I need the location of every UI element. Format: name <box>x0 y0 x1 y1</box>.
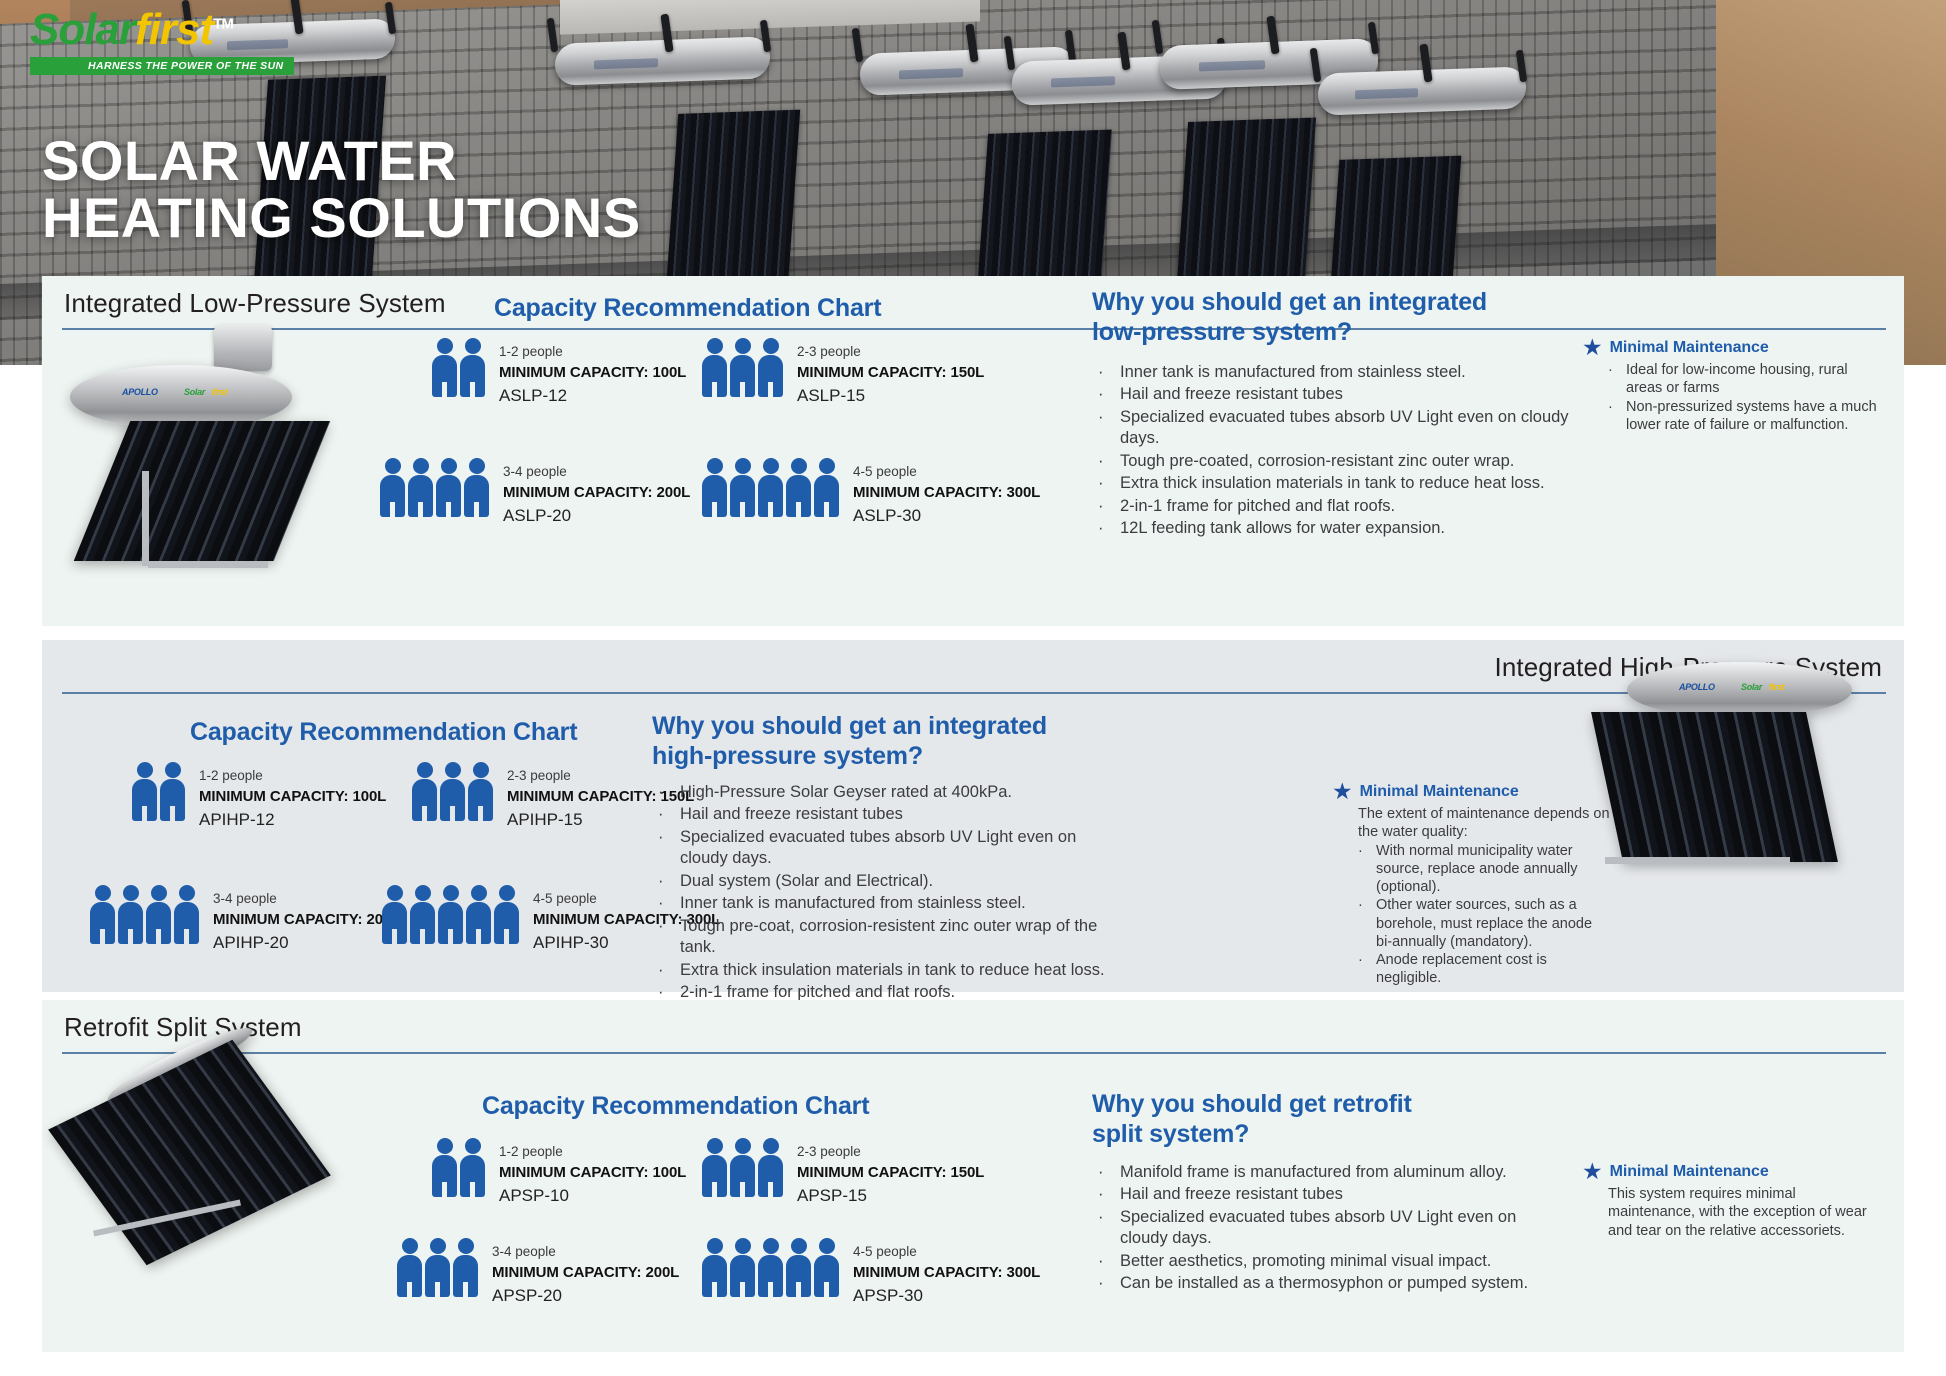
person-icon <box>460 338 485 397</box>
person-body-icon <box>440 779 465 821</box>
capacity-minimum-label: MINIMUM CAPACITY: 150L <box>797 1162 984 1184</box>
feature-bullet-item: ·Tough pre-coated, corrosion-resistant z… <box>1092 451 1592 472</box>
bullet-dot-icon: · <box>1608 361 1626 398</box>
person-icon <box>438 885 463 944</box>
bullet-dot-icon: · <box>1092 384 1120 405</box>
person-head-icon <box>95 885 111 901</box>
feature-bullet-text: Dual system (Solar and Electrical). <box>680 871 1122 892</box>
person-body-icon <box>468 779 493 821</box>
why-title-line1: Why you should get an integrated <box>1092 288 1487 318</box>
person-head-icon <box>499 885 515 901</box>
person-body-icon <box>410 902 435 944</box>
person-head-icon <box>791 458 807 474</box>
person-head-icon <box>707 1238 723 1254</box>
people-figures <box>432 338 485 397</box>
capacity-recommendation-item: 3-4 peopleMINIMUM CAPACITY: 200LAPIHP-20 <box>90 885 400 956</box>
product-frame-leg <box>148 561 268 568</box>
feature-bullet-text: Hail and freeze resistant tubes <box>1120 1184 1552 1205</box>
bullet-dot-icon: · <box>1092 451 1120 472</box>
person-icon <box>440 762 465 821</box>
why-title-line2: high-pressure system? <box>652 742 1047 772</box>
product-badge-solar: Solar <box>184 387 205 397</box>
feature-bullet-text: Extra thick insulation materials in tank… <box>1120 473 1592 494</box>
person-head-icon <box>707 1138 723 1154</box>
person-head-icon <box>165 762 181 778</box>
minimal-maintenance-header: ★Minimal Maintenance <box>1332 780 1612 803</box>
capacity-model-label: ASLP-15 <box>797 384 984 409</box>
capacity-chart-title: Capacity Recommendation Chart <box>190 718 577 748</box>
geyser-tank <box>555 36 770 86</box>
capacity-minimum-label: MINIMUM CAPACITY: 100L <box>499 362 686 384</box>
minimal-maintenance-bullet-text: Ideal for low-income housing, rural area… <box>1626 361 1882 398</box>
bullet-dot-icon: · <box>1092 1207 1120 1250</box>
capacity-minimum-label: MINIMUM CAPACITY: 300L <box>853 482 1040 504</box>
capacity-item-text: 2-3 peopleMINIMUM CAPACITY: 150LAPSP-15 <box>797 1138 984 1209</box>
feature-bullet-item: ·Can be installed as a thermosyphon or p… <box>1092 1273 1552 1294</box>
bullet-dot-icon: · <box>652 916 680 959</box>
section-retrofit-split: Retrofit Split SystemCapacity Recommenda… <box>42 1000 1904 1352</box>
person-icon <box>380 458 405 517</box>
capacity-model-label: APSP-10 <box>499 1184 686 1209</box>
people-figures <box>382 885 519 944</box>
bullet-dot-icon: · <box>1092 1251 1120 1272</box>
person-icon <box>382 885 407 944</box>
capacity-people-label: 3-4 people <box>492 1242 679 1262</box>
bullet-dot-icon: · <box>652 960 680 981</box>
person-body-icon <box>702 355 727 397</box>
feature-bullet-item: ·Hail and freeze resistant tubes <box>1092 1184 1552 1205</box>
person-body-icon <box>786 475 811 517</box>
feature-bullet-item: ·Extra thick insulation materials in tan… <box>652 960 1122 981</box>
feature-bullet-item: ·Specialized evacuated tubes absorb UV L… <box>1092 407 1592 450</box>
capacity-people-label: 2-3 people <box>797 1142 984 1162</box>
person-body-icon <box>408 475 433 517</box>
person-body-icon <box>702 475 727 517</box>
person-body-icon <box>730 1255 755 1297</box>
people-figures <box>380 458 489 517</box>
person-body-icon <box>160 779 185 821</box>
person-icon <box>425 1238 450 1297</box>
person-head-icon <box>417 762 433 778</box>
why-get-system-title: Why you should get an integratedhigh-pre… <box>652 712 1047 771</box>
person-body-icon <box>460 355 485 397</box>
person-head-icon <box>735 1138 751 1154</box>
feature-bullet-item: ·Hail and freeze resistant tubes <box>652 804 1122 825</box>
person-icon <box>397 1238 422 1297</box>
person-icon <box>466 885 491 944</box>
capacity-recommendation-item: 2-3 peopleMINIMUM CAPACITY: 150LASLP-15 <box>702 338 984 409</box>
logo-trademark-icon: TM <box>213 15 233 32</box>
person-icon <box>730 1138 755 1197</box>
person-body-icon <box>460 1155 485 1197</box>
capacity-chart-title: Capacity Recommendation Chart <box>494 294 881 324</box>
capacity-people-label: 1-2 people <box>199 766 386 786</box>
product-evacuated-tubes <box>74 421 331 561</box>
person-head-icon <box>735 458 751 474</box>
person-icon <box>460 1138 485 1197</box>
bullet-dot-icon: · <box>1092 1273 1120 1294</box>
feature-bullet-text: Specialized evacuated tubes absorb UV Li… <box>680 827 1122 870</box>
section-integrated-high-pressure: Integrated High-Pressure SystemCapacity … <box>42 640 1904 992</box>
person-icon <box>464 458 489 517</box>
capacity-item-text: 3-4 peopleMINIMUM CAPACITY: 200LASLP-20 <box>503 458 690 529</box>
feature-bullet-text: Can be installed as a thermosyphon or pu… <box>1120 1273 1552 1294</box>
person-icon <box>146 885 171 944</box>
person-icon <box>786 1238 811 1297</box>
capacity-model-label: ASLP-30 <box>853 504 1040 529</box>
person-head-icon <box>445 762 461 778</box>
minimal-maintenance-callout: ★Minimal MaintenanceThis system requires… <box>1582 1160 1872 1240</box>
capacity-recommendation-item: 1-2 peopleMINIMUM CAPACITY: 100LAPIHP-12 <box>132 762 386 833</box>
minimal-maintenance-header: ★Minimal Maintenance <box>1582 1160 1872 1183</box>
section-heading: Integrated Low-Pressure System <box>64 288 446 319</box>
feature-bullet-text: Extra thick insulation materials in tank… <box>680 960 1122 981</box>
bullet-dot-icon: · <box>1358 951 1376 988</box>
capacity-recommendation-item: 1-2 peopleMINIMUM CAPACITY: 100LASLP-12 <box>432 338 686 409</box>
capacity-minimum-label: MINIMUM CAPACITY: 200L <box>503 482 690 504</box>
person-head-icon <box>387 885 403 901</box>
person-icon <box>432 338 457 397</box>
person-icon <box>453 1238 478 1297</box>
person-head-icon <box>123 885 139 901</box>
person-icon <box>730 1238 755 1297</box>
why-get-system-title: Why you should get an integratedlow-pres… <box>1092 288 1487 347</box>
feature-bullet-item: ·Tough pre-coat, corrosion-resistent zin… <box>652 916 1122 959</box>
feature-bullet-item: ·Dual system (Solar and Electrical). <box>652 871 1122 892</box>
brand-logo: SolarfirstTM HARNESS THE POWER OF THE SU… <box>30 8 300 75</box>
people-figures <box>412 762 493 821</box>
minimal-maintenance-bullet-text: Anode replacement cost is negligible. <box>1376 951 1612 988</box>
capacity-recommendation-item: 4-5 peopleMINIMUM CAPACITY: 300LAPSP-30 <box>702 1238 1040 1309</box>
feature-bullet-text: Better aesthetics, promoting minimal vis… <box>1120 1251 1552 1272</box>
person-head-icon <box>791 1238 807 1254</box>
capacity-item-text: 1-2 peopleMINIMUM CAPACITY: 100LAPIHP-12 <box>199 762 386 833</box>
person-head-icon <box>735 1238 751 1254</box>
star-icon: ★ <box>1332 780 1353 803</box>
person-body-icon <box>397 1255 422 1297</box>
people-figures <box>432 1138 485 1197</box>
people-figures <box>702 338 783 397</box>
feature-bullet-text: Inner tank is manufactured from stainles… <box>680 893 1122 914</box>
person-head-icon <box>413 458 429 474</box>
person-body-icon <box>132 779 157 821</box>
capacity-recommendation-item: 1-2 peopleMINIMUM CAPACITY: 100LAPSP-10 <box>432 1138 686 1209</box>
person-body-icon <box>118 902 143 944</box>
capacity-model-label: APSP-15 <box>797 1184 984 1209</box>
person-body-icon <box>382 902 407 944</box>
bullet-dot-icon: · <box>1092 1184 1120 1205</box>
product-badge-apollo: APOLLO <box>1679 682 1715 692</box>
person-body-icon <box>814 475 839 517</box>
product-evacuated-tubes <box>1591 712 1838 862</box>
logo-tagline: HARNESS THE POWER OF THE SUN <box>30 57 294 75</box>
feature-bullet-item: ·Specialized evacuated tubes absorb UV L… <box>652 827 1122 870</box>
person-head-icon <box>402 1238 418 1254</box>
logo-text-first: first <box>135 5 213 54</box>
product-badge-apollo: APOLLO <box>122 387 158 397</box>
capacity-model-label: ASLP-12 <box>499 384 686 409</box>
person-head-icon <box>707 338 723 354</box>
person-icon <box>468 762 493 821</box>
capacity-people-label: 4-5 people <box>853 462 1040 482</box>
minimal-maintenance-lead: The extent of maintenance depends on the… <box>1332 805 1612 842</box>
capacity-people-label: 3-4 people <box>213 889 400 909</box>
person-head-icon <box>819 458 835 474</box>
section-integrated-low-pressure: Integrated Low-Pressure SystemAPOLLOSola… <box>42 276 1904 626</box>
feature-bullet-text: Specialized evacuated tubes absorb UV Li… <box>1120 407 1592 450</box>
minimal-maintenance-header: ★Minimal Maintenance <box>1582 336 1882 359</box>
capacity-recommendation-item: 3-4 peopleMINIMUM CAPACITY: 200LAPSP-20 <box>397 1238 679 1309</box>
minimal-maintenance-bullet-item: ·With normal municipality water source, … <box>1358 842 1612 897</box>
logo-text-solar: Solar <box>30 5 135 54</box>
person-body-icon <box>174 902 199 944</box>
people-figures <box>702 1238 839 1297</box>
feature-bullet-list: ·Manifold frame is manufactured from alu… <box>1092 1162 1552 1296</box>
person-body-icon <box>412 779 437 821</box>
feature-bullet-text: Tough pre-coat, corrosion-resistent zinc… <box>680 916 1122 959</box>
product-photo-split <box>62 1040 352 1290</box>
bullet-dot-icon: · <box>1092 496 1120 517</box>
minimal-maintenance-bullets: ·Ideal for low-income housing, rural are… <box>1582 361 1882 434</box>
person-head-icon <box>385 458 401 474</box>
person-icon <box>432 1138 457 1197</box>
feature-bullet-text: Manifold frame is manufactured from alum… <box>1120 1162 1552 1183</box>
person-icon <box>174 885 199 944</box>
capacity-model-label: APSP-30 <box>853 1284 1040 1309</box>
minimal-maintenance-title: Minimal Maintenance <box>1360 783 1519 801</box>
capacity-recommendation-item: 4-5 peopleMINIMUM CAPACITY: 300LASLP-30 <box>702 458 1040 529</box>
feature-bullet-text: Hail and freeze resistant tubes <box>1120 384 1592 405</box>
capacity-minimum-label: MINIMUM CAPACITY: 300L <box>853 1262 1040 1284</box>
capacity-model-label: APSP-20 <box>492 1284 679 1309</box>
geyser-tank <box>1318 66 1526 115</box>
person-head-icon <box>415 885 431 901</box>
person-icon <box>412 762 437 821</box>
person-body-icon <box>464 475 489 517</box>
capacity-recommendation-item: 3-4 peopleMINIMUM CAPACITY: 200LASLP-20 <box>380 458 690 529</box>
bullet-dot-icon: · <box>652 871 680 892</box>
person-icon <box>436 458 461 517</box>
bullet-dot-icon: · <box>652 827 680 870</box>
why-title-line1: Why you should get retrofit <box>1092 1090 1412 1120</box>
person-head-icon <box>707 458 723 474</box>
bullet-dot-icon: · <box>1092 518 1120 539</box>
capacity-people-label: 1-2 people <box>499 342 686 362</box>
person-head-icon <box>151 885 167 901</box>
product-badge-first: first <box>212 387 228 397</box>
capacity-people-label: 4-5 people <box>853 1242 1040 1262</box>
product-frame-leg <box>142 471 149 566</box>
bullet-dot-icon: · <box>1608 398 1626 435</box>
minimal-maintenance-title: Minimal Maintenance <box>1610 339 1769 357</box>
person-body-icon <box>146 902 171 944</box>
minimal-maintenance-callout: ★Minimal Maintenance·Ideal for low-incom… <box>1582 336 1882 434</box>
person-body-icon <box>730 1155 755 1197</box>
person-head-icon <box>763 458 779 474</box>
feeding-tank <box>214 325 272 371</box>
person-head-icon <box>430 1238 446 1254</box>
person-body-icon <box>814 1255 839 1297</box>
page-title: SOLAR WATER HEATING SOLUTIONS <box>42 132 641 246</box>
person-head-icon <box>443 885 459 901</box>
feature-bullet-item: ·12L feeding tank allows for water expan… <box>1092 518 1592 539</box>
person-icon <box>90 885 115 944</box>
person-body-icon <box>466 902 491 944</box>
bullet-dot-icon: · <box>1092 1162 1120 1183</box>
capacity-people-label: 3-4 people <box>503 462 690 482</box>
feature-bullet-item: ·Inner tank is manufactured from stainle… <box>1092 362 1592 383</box>
minimal-maintenance-bullet-text: Non-pressurized systems have a much lowe… <box>1626 398 1882 435</box>
bullet-dot-icon: · <box>1358 842 1376 897</box>
capacity-model-label: APIHP-20 <box>213 931 400 956</box>
person-icon <box>786 458 811 517</box>
person-icon <box>730 458 755 517</box>
person-head-icon <box>465 1138 481 1154</box>
person-body-icon <box>432 355 457 397</box>
person-head-icon <box>458 1238 474 1254</box>
feature-bullet-text: Tough pre-coated, corrosion-resistant zi… <box>1120 451 1592 472</box>
star-icon: ★ <box>1582 1160 1603 1183</box>
person-body-icon <box>730 475 755 517</box>
person-head-icon <box>735 338 751 354</box>
person-head-icon <box>471 885 487 901</box>
person-head-icon <box>437 338 453 354</box>
person-head-icon <box>441 458 457 474</box>
person-body-icon <box>432 1155 457 1197</box>
feature-bullet-item: ·Better aesthetics, promoting minimal vi… <box>1092 1251 1552 1272</box>
capacity-item-text: 4-5 peopleMINIMUM CAPACITY: 300LASLP-30 <box>853 458 1040 529</box>
capacity-item-text: 4-5 peopleMINIMUM CAPACITY: 300LAPSP-30 <box>853 1238 1040 1309</box>
feature-bullet-item: ·Extra thick insulation materials in tan… <box>1092 473 1592 494</box>
capacity-item-text: 1-2 peopleMINIMUM CAPACITY: 100LASLP-12 <box>499 338 686 409</box>
person-body-icon <box>730 355 755 397</box>
capacity-item-text: 3-4 peopleMINIMUM CAPACITY: 200LAPSP-20 <box>492 1238 679 1309</box>
minimal-maintenance-lead: This system requires minimal maintenance… <box>1582 1185 1872 1240</box>
person-icon <box>758 458 783 517</box>
minimal-maintenance-bullets: ·With normal municipality water source, … <box>1332 842 1612 988</box>
feature-bullet-item: ·Manifold frame is manufactured from alu… <box>1092 1162 1552 1183</box>
bullet-dot-icon: · <box>1092 407 1120 450</box>
person-head-icon <box>763 1138 779 1154</box>
product-badge-first: first <box>1769 682 1785 692</box>
person-icon <box>118 885 143 944</box>
minimal-maintenance-bullet-text: With normal municipality water source, r… <box>1376 842 1612 897</box>
why-title-line2: split system? <box>1092 1120 1412 1150</box>
person-icon <box>702 1238 727 1297</box>
why-title-line1: Why you should get an integrated <box>652 712 1047 742</box>
product-frame-leg <box>1605 857 1790 864</box>
person-icon <box>758 1138 783 1197</box>
feature-bullet-text: Hail and freeze resistant tubes <box>680 804 1122 825</box>
person-body-icon <box>758 1255 783 1297</box>
person-icon <box>730 338 755 397</box>
person-icon <box>494 885 519 944</box>
capacity-minimum-label: MINIMUM CAPACITY: 200L <box>213 909 400 931</box>
minimal-maintenance-bullet-item: ·Non-pressurized systems have a much low… <box>1608 398 1882 435</box>
person-icon <box>758 1238 783 1297</box>
person-icon <box>814 458 839 517</box>
capacity-model-label: APIHP-12 <box>199 808 386 833</box>
capacity-recommendation-item: 2-3 peopleMINIMUM CAPACITY: 150LAPSP-15 <box>702 1138 984 1209</box>
feature-bullet-text: Inner tank is manufactured from stainles… <box>1120 362 1592 383</box>
capacity-people-label: 1-2 people <box>499 1142 686 1162</box>
feature-bullet-text: 12L feeding tank allows for water expans… <box>1120 518 1592 539</box>
section-heading: Retrofit Split System <box>64 1012 302 1043</box>
person-body-icon <box>786 1255 811 1297</box>
minimal-maintenance-title: Minimal Maintenance <box>1610 1163 1769 1181</box>
feature-bullet-list: ·High-Pressure Solar Geyser rated at 400… <box>652 782 1122 1004</box>
feature-bullet-item: ·Inner tank is manufactured from stainle… <box>652 893 1122 914</box>
feature-bullet-item: ·2-in-1 frame for pitched and flat roofs… <box>1092 496 1592 517</box>
feature-bullet-list: ·Inner tank is manufactured from stainle… <box>1092 362 1592 541</box>
person-body-icon <box>702 1155 727 1197</box>
person-icon <box>702 458 727 517</box>
person-head-icon <box>137 762 153 778</box>
capacity-item-text: 3-4 peopleMINIMUM CAPACITY: 200LAPIHP-20 <box>213 885 400 956</box>
capacity-chart-title: Capacity Recommendation Chart <box>482 1092 869 1122</box>
person-icon <box>160 762 185 821</box>
person-head-icon <box>469 458 485 474</box>
page-title-line2: HEATING SOLUTIONS <box>42 189 641 246</box>
product-photo-high-pressure: APOLLOSolarfirst <box>1587 662 1877 912</box>
capacity-minimum-label: MINIMUM CAPACITY: 100L <box>199 786 386 808</box>
person-icon <box>132 762 157 821</box>
person-icon <box>702 1138 727 1197</box>
product-evacuated-tubes <box>48 1040 331 1265</box>
bullet-dot-icon: · <box>1092 362 1120 383</box>
minimal-maintenance-bullet-item: ·Anode replacement cost is negligible. <box>1358 951 1612 988</box>
feature-bullet-text: High-Pressure Solar Geyser rated at 400k… <box>680 782 1122 803</box>
bullet-dot-icon: · <box>1092 473 1120 494</box>
person-head-icon <box>437 1138 453 1154</box>
minimal-maintenance-bullet-text: Other water sources, such as a borehole,… <box>1376 896 1612 951</box>
bullet-dot-icon: · <box>652 804 680 825</box>
capacity-model-label: ASLP-20 <box>503 504 690 529</box>
product-tank <box>70 365 292 429</box>
people-figures <box>132 762 185 821</box>
bullet-dot-icon: · <box>652 893 680 914</box>
feature-bullet-item: ·Specialized evacuated tubes absorb UV L… <box>1092 1207 1552 1250</box>
people-figures <box>90 885 199 944</box>
person-head-icon <box>473 762 489 778</box>
capacity-item-text: 1-2 peopleMINIMUM CAPACITY: 100LAPSP-10 <box>499 1138 686 1209</box>
people-figures <box>397 1238 478 1297</box>
feature-bullet-text: Specialized evacuated tubes absorb UV Li… <box>1120 1207 1552 1250</box>
product-badge-solar: Solar <box>1741 682 1762 692</box>
person-body-icon <box>702 1255 727 1297</box>
person-head-icon <box>179 885 195 901</box>
person-icon <box>758 338 783 397</box>
person-head-icon <box>763 1238 779 1254</box>
person-body-icon <box>758 1155 783 1197</box>
person-icon <box>408 458 433 517</box>
person-body-icon <box>453 1255 478 1297</box>
person-body-icon <box>494 902 519 944</box>
person-icon <box>814 1238 839 1297</box>
people-figures <box>702 458 839 517</box>
person-head-icon <box>819 1238 835 1254</box>
star-icon: ★ <box>1582 336 1603 359</box>
minimal-maintenance-bullet-item: ·Other water sources, such as a borehole… <box>1358 896 1612 951</box>
feature-bullet-item: ·High-Pressure Solar Geyser rated at 400… <box>652 782 1122 803</box>
capacity-item-text: 2-3 peopleMINIMUM CAPACITY: 150LASLP-15 <box>797 338 984 409</box>
capacity-minimum-label: MINIMUM CAPACITY: 150L <box>797 362 984 384</box>
minimal-maintenance-bullet-item: ·Ideal for low-income housing, rural are… <box>1608 361 1882 398</box>
bullet-dot-icon: · <box>652 782 680 803</box>
page-title-line1: SOLAR WATER <box>42 132 641 189</box>
person-body-icon <box>380 475 405 517</box>
people-figures <box>702 1138 783 1197</box>
